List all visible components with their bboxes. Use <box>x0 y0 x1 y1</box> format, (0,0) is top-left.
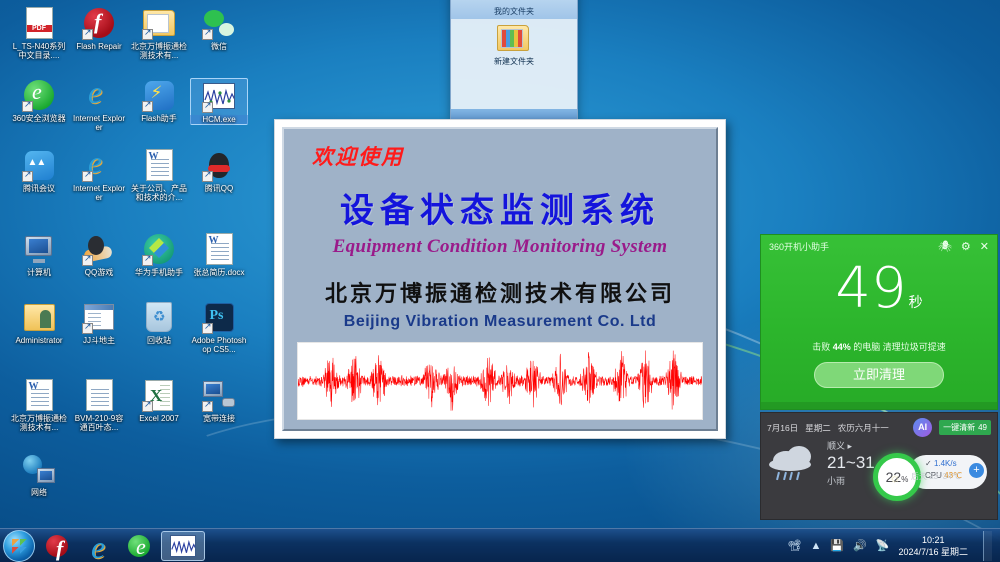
close-icon[interactable]: ✕ <box>980 240 989 253</box>
weather-condition: 小雨 <box>827 474 875 487</box>
360-subtext-prefix: 击败 <box>812 342 833 352</box>
taskbar-buttons <box>35 531 205 561</box>
desktop-icon[interactable]: 北京万博振通检测技术有... <box>130 6 188 60</box>
taskbar[interactable]: 📽 ▲ 💾 🔊 📡 10:21 2024/7/16 星期二 <box>0 528 1000 562</box>
desktop-icon[interactable]: Excel 2007 <box>130 378 188 423</box>
flash-icon <box>46 535 68 557</box>
desktop-icon[interactable]: W张总简历.docx <box>190 232 248 277</box>
desktop-icon[interactable]: JJ斗地主 <box>70 300 128 345</box>
360-browser-icon <box>22 78 56 112</box>
desktop-icon[interactable]: 腾讯QQ <box>190 148 248 193</box>
desktop-icon-label: QQ游戏 <box>70 268 128 277</box>
desktop-icon-label: Internet Explorer <box>70 114 128 132</box>
desktop-icon[interactable]: 腾讯会议 <box>10 148 68 193</box>
internet-explorer-icon <box>82 78 116 112</box>
shortcut-overlay-icon <box>202 102 213 113</box>
weather-date-row: 7月16日 星期二 农历六月十一 AI 一键清新 49 <box>761 413 997 437</box>
splash-welcome-text: 欢迎使用 <box>312 141 700 171</box>
splash-company-chinese: 北京万博振通检测技术有限公司 <box>300 276 700 308</box>
splash-inner-panel: 欢迎使用 设备状态监测系统 Equipment Condition Monito… <box>282 127 718 431</box>
desktop-icon[interactable]: Adobe Photoshop CS5... <box>190 300 248 354</box>
desktop-icon-label: HCM.exe <box>190 115 248 124</box>
usb-safely-remove-icon[interactable]: 💾 <box>830 539 844 552</box>
folder-window[interactable]: 我的文件夹 新建文件夹 <box>450 0 578 120</box>
desktop-icon[interactable]: W北京万博振通检测技术有... <box>10 378 68 432</box>
show-desktop-button[interactable] <box>983 531 992 561</box>
broom-icon[interactable]: 🕷 <box>938 240 952 253</box>
pdf-file-icon <box>22 6 56 40</box>
desktop-icon-label: 宽带连接 <box>190 414 248 423</box>
shortcut-overlay-icon <box>82 323 93 334</box>
gauge-unit: % <box>901 475 908 484</box>
desktop-icon-label: Administrator <box>10 336 68 345</box>
360-subtext-percent: 44% <box>833 342 851 352</box>
desktop-icon-label: 北京万博振通检测技术有... <box>10 414 68 432</box>
360-widget-subtext: 击败 44% 的电脑 清理垃圾可提速 <box>761 340 997 353</box>
desktop-icon-label: Adobe Photoshop CS5... <box>190 336 248 354</box>
excel-icon <box>142 378 176 412</box>
media-icon[interactable]: 📽 <box>787 539 801 552</box>
desktop-icon[interactable]: 360安全浏览器 <box>10 78 68 123</box>
network-signal-icon[interactable]: 📡 <box>876 539 890 552</box>
weather-lunar-date: 农历六月十一 <box>838 422 889 434</box>
broadband-connection-icon <box>202 378 236 412</box>
folder-item-label: 新建文件夹 <box>494 56 534 67</box>
desktop-icon-label: 华为手机助手 <box>130 268 188 277</box>
weather-weekday: 星期二 <box>805 422 831 434</box>
word-document-icon: W <box>142 148 176 182</box>
desktop[interactable]: L_TS-N40系列中文目录....Flash Repair北京万博振通检测技术… <box>0 0 1000 562</box>
desktop-icon[interactable]: Flash Repair <box>70 6 128 51</box>
desktop-icon-label: BVM-210-9容通百叶态... <box>70 414 128 432</box>
shortcut-overlay-icon <box>202 401 213 412</box>
desktop-icon-label: 计算机 <box>10 268 68 277</box>
folder-multi-icon <box>497 25 531 53</box>
desktop-icon[interactable]: 宽带连接 <box>190 378 248 423</box>
clean-badge-value: 49 <box>978 423 987 432</box>
360-widget-header: 360开机小助手 🕷 ⚙ ✕ <box>761 235 997 253</box>
wechat-icon <box>202 6 236 40</box>
weather-widget[interactable]: 7月16日 星期二 农历六月十一 AI 一键清新 49 顺义 ▸ 21~31 <box>760 412 998 520</box>
hcm-exe-icon <box>202 79 236 113</box>
desktop-icon[interactable]: QQ游戏 <box>70 232 128 277</box>
add-icon[interactable]: + <box>969 463 984 478</box>
recycle-bin-icon <box>142 300 176 334</box>
360-boot-seconds-value: 49 <box>835 256 906 321</box>
user-folder-icon <box>22 300 56 334</box>
shortcut-overlay-icon <box>142 255 153 266</box>
shortcut-overlay-icon <box>142 401 153 412</box>
shortcut-overlay-icon <box>202 171 213 182</box>
huawei-assistant-icon <box>142 232 176 266</box>
shortcut-overlay-icon <box>142 101 153 112</box>
desktop-icon-label: 微信 <box>190 42 248 51</box>
splash-title-english: Equipment Condition Monitoring System <box>300 236 700 258</box>
shortcut-overlay-icon <box>82 29 93 40</box>
flash-assistant-icon <box>142 78 176 112</box>
rain-drops-icon <box>777 472 798 480</box>
360-widget-title: 360开机小助手 <box>769 240 938 253</box>
rain-cloud-icon <box>767 443 823 487</box>
taskbar-clock[interactable]: 10:21 2024/7/16 星期二 <box>898 534 968 558</box>
ai-badge[interactable]: AI <box>913 418 932 437</box>
clean-now-button[interactable]: 立即清理 <box>814 362 944 388</box>
hcm-taskbar-button[interactable] <box>161 531 205 561</box>
shortcut-overlay-icon <box>22 101 33 112</box>
desktop-icon-label: L_TS-N40系列中文目录.... <box>10 42 68 60</box>
flash-repair-icon <box>82 6 116 40</box>
shortcut-overlay-icon <box>82 171 93 182</box>
flash-taskbar-button[interactable] <box>38 531 76 561</box>
internet-explorer-icon <box>82 148 116 182</box>
system-tray: 📽 ▲ 💾 🔊 📡 10:21 2024/7/16 星期二 <box>787 531 1000 561</box>
waveform-svg <box>298 343 702 419</box>
360-widget-header-icons: 🕷 ⚙ ✕ <box>938 240 989 253</box>
shortcut-overlay-icon <box>142 29 153 40</box>
computer-icon <box>22 232 56 266</box>
folder-window-strip <box>451 109 577 119</box>
clock-date: 2024/7/16 星期二 <box>898 546 968 558</box>
internet-explorer-taskbar-button[interactable] <box>79 531 117 561</box>
desktop-icon[interactable]: Flash助手 <box>130 78 188 123</box>
weather-body: 顺义 ▸ 21~31 小雨 ✓ 1.4K/s CPU 43℃ + 22% ☼ 后… <box>761 437 997 487</box>
desktop-icon[interactable]: Internet Explorer <box>70 148 128 202</box>
desktop-icon-label: 北京万博振通检测技术有... <box>130 42 188 60</box>
hcm-waveform-icon <box>170 535 196 557</box>
photoshop-icon <box>202 300 236 334</box>
desktop-icon-label: 360安全浏览器 <box>10 114 68 123</box>
volume-icon[interactable]: 🔊 <box>853 539 867 552</box>
desktop-icon-label: 腾讯会议 <box>10 184 68 193</box>
tencent-meeting-icon <box>22 148 56 182</box>
360-browser-taskbar-button[interactable] <box>120 531 158 561</box>
show-hidden-icons-icon[interactable]: ▲ <box>810 540 821 552</box>
folder-window-title: 我的文件夹 <box>494 6 534 17</box>
desktop-icon-label: 腾讯QQ <box>190 184 248 193</box>
splash-window[interactable]: 欢迎使用 设备状态监测系统 Equipment Condition Monito… <box>274 119 726 439</box>
folder-window-body[interactable]: 新建文件夹 <box>451 19 577 73</box>
weather-temp-range: 21~31 <box>827 453 875 473</box>
desktop-icon[interactable]: 回收站 <box>130 300 188 345</box>
one-click-clean-badge[interactable]: 一键清新 49 <box>939 420 991 435</box>
sun-icon: ☼ <box>889 470 901 485</box>
desktop-icon[interactable]: 计算机 <box>10 232 68 277</box>
tencent-qq-icon <box>202 148 236 182</box>
network-speed-value: 1.4K/s <box>934 459 957 468</box>
splash-waveform-plot <box>297 342 703 420</box>
desktop-icon[interactable]: BVM-210-9容通百叶态... <box>70 378 128 432</box>
shortcut-overlay-icon <box>202 29 213 40</box>
360-boot-seconds: 49秒 <box>761 261 997 331</box>
shortcut-overlay-icon <box>22 171 33 182</box>
360-browser-icon <box>128 535 150 557</box>
desktop-icon-label: Internet Explorer <box>70 184 128 202</box>
folder-window-titlebar[interactable]: 我的文件夹 <box>451 0 577 19</box>
desktop-icon-label: 回收站 <box>130 336 188 345</box>
360-boot-seconds-unit: 秒 <box>909 295 923 311</box>
shortcut-overlay-icon <box>82 255 93 266</box>
jj-landlord-icon <box>82 300 116 334</box>
splash-company-english: Beijing Vibration Measurement Co. Ltd <box>300 313 700 331</box>
360-widget-footer <box>761 402 997 409</box>
desktop-icon[interactable]: Administrator <box>10 300 68 345</box>
word-document-icon: W <box>22 378 56 412</box>
desktop-icon-label: Excel 2007 <box>130 414 188 423</box>
internet-explorer-icon <box>87 535 109 557</box>
desktop-icon[interactable]: W关于公司、产品和技术的介... <box>130 148 188 202</box>
weather-forecast: 后天 23~34℃ <box>911 471 961 482</box>
start-button[interactable] <box>3 530 35 562</box>
network-icon <box>22 452 56 486</box>
360-subtext-suffix: 的电脑 清理垃圾可提速 <box>851 342 946 352</box>
desktop-icon[interactable]: 华为手机助手 <box>130 232 188 277</box>
splash-title-chinese: 设备状态监测系统 <box>300 183 700 232</box>
clean-badge-label: 一键清新 <box>943 422 975 433</box>
qq-game-icon <box>82 232 116 266</box>
desktop-icon[interactable]: HCM.exe <box>190 78 248 125</box>
360-boot-assistant-widget[interactable]: 360开机小助手 🕷 ⚙ ✕ 49秒 击败 44% 的电脑 清理垃圾可提速 立即… <box>760 234 998 410</box>
desktop-icon-label: 网络 <box>10 488 68 497</box>
shortcut-overlay-icon <box>202 323 213 334</box>
gear-icon[interactable]: ⚙ <box>961 240 971 253</box>
desktop-icon-label: Flash Repair <box>70 42 128 51</box>
clock-time: 10:21 <box>898 534 968 546</box>
word-document-icon: W <box>202 232 236 266</box>
desktop-icon-label: Flash助手 <box>130 114 188 123</box>
desktop-icon-label: 张总简历.docx <box>190 268 248 277</box>
weather-info: 顺义 ▸ 21~31 小雨 <box>827 439 875 487</box>
document-icon <box>82 378 116 412</box>
desktop-icon[interactable]: Internet Explorer <box>70 78 128 132</box>
weather-date: 7月16日 <box>767 422 798 434</box>
folder-icon <box>142 6 176 40</box>
desktop-icon[interactable]: 微信 <box>190 6 248 51</box>
desktop-icon[interactable]: 网络 <box>10 452 68 497</box>
desktop-icon-label: 关于公司、产品和技术的介... <box>130 184 188 202</box>
desktop-icon-label: JJ斗地主 <box>70 336 128 345</box>
desktop-icon[interactable]: L_TS-N40系列中文目录.... <box>10 6 68 60</box>
weather-city[interactable]: 顺义 ▸ <box>827 439 875 452</box>
